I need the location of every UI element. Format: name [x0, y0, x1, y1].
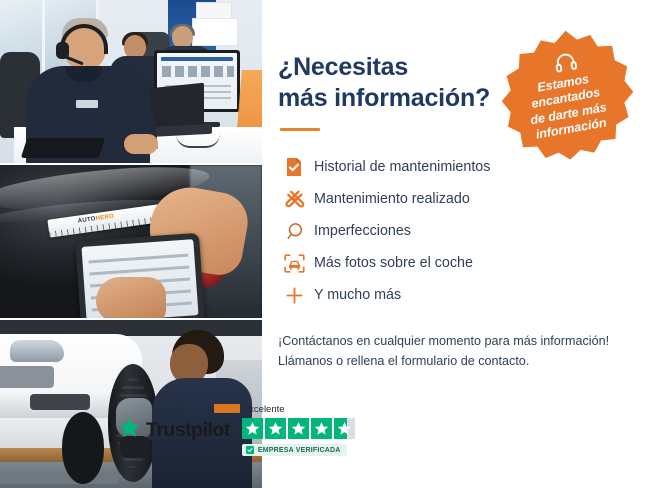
contact-text: ¡Contáctanos en cualquier momento para m…: [278, 331, 624, 372]
screen-thumbnails: [162, 66, 234, 77]
screen-header-bar: [161, 57, 233, 61]
inspector-hand-lower: [96, 277, 166, 320]
desk-tablet: [21, 138, 105, 158]
mounted-wheel: [62, 412, 104, 484]
verified-business-badge: EMPRESA VERIFICADA: [242, 444, 347, 456]
trustpilot-rating: Excelente: [242, 404, 355, 456]
front-grille: [0, 366, 54, 388]
magnifier-icon: [278, 222, 310, 241]
car-scan-icon: [278, 254, 310, 273]
ruler-brand-b: HERO: [95, 214, 114, 223]
feature-item-label: Más fotos sobre el coche: [310, 255, 473, 271]
tablet-row: [89, 266, 189, 276]
tools-wrench-screwdriver-icon: [278, 189, 310, 210]
contact-line-2: Llámanos o rellena el formulario de cont…: [278, 354, 529, 368]
vehicle-inspection-photo: AUTOHERO: [0, 165, 262, 320]
call-center-agents-photo: [0, 0, 262, 165]
feature-item-label: Y mucho más: [310, 287, 401, 303]
verified-label: EMPRESA VERIFICADA: [258, 447, 341, 454]
promo-card: AUTOHERO: [0, 0, 650, 488]
rating-star-4: [311, 418, 332, 439]
feature-item-label: Imperfecciones: [310, 223, 411, 239]
headlight: [10, 340, 64, 362]
badge-text-block: Estamos encantados de darte más informac…: [486, 17, 645, 176]
hand: [124, 134, 158, 154]
rating-label: Excelente: [243, 404, 285, 415]
checklist-document-icon: [278, 157, 310, 177]
rating-star-3: [288, 418, 309, 439]
page-title: ¿Necesitas más información?: [278, 52, 508, 113]
bumper-vent: [30, 394, 90, 410]
title-divider: [280, 128, 320, 131]
name-badge: [76, 100, 98, 108]
page-title-line1: ¿Necesitas: [278, 53, 408, 81]
rating-star-2: [265, 418, 286, 439]
feature-list: Historial de mantenimientos Mantenimient…: [278, 151, 624, 311]
feature-item-mas: Y mucho más: [278, 279, 624, 311]
rating-star-5-partial: [334, 418, 355, 439]
support-badge: Estamos encantados de darte más informac…: [497, 28, 634, 165]
feature-item-fotos: Más fotos sobre el coche: [278, 247, 624, 279]
feature-item-imperfecciones: Imperfecciones: [278, 215, 624, 247]
rating-star-1: [242, 418, 263, 439]
page-title-line2: más información?: [278, 84, 490, 112]
feature-item-mantenimiento: Mantenimiento realizado: [278, 183, 624, 215]
trustpilot-star-icon: [118, 416, 141, 444]
trustpilot-wordmark: Trustpilot: [146, 419, 230, 442]
contact-line-1: ¡Contáctanos en cualquier momento para m…: [278, 334, 609, 348]
verified-check-icon: [246, 446, 254, 454]
trustpilot-widget[interactable]: Trustpilot Excelente: [118, 404, 355, 456]
vehicle-lift-arm: [0, 472, 118, 484]
trustpilot-logo[interactable]: Trustpilot: [118, 416, 230, 444]
plus-icon: [278, 286, 310, 305]
ruler-brand-a: AUTO: [77, 216, 96, 224]
tablet-row: [88, 254, 188, 264]
feature-item-label: Mantenimiento realizado: [310, 191, 470, 207]
star-rating: [242, 418, 355, 439]
feature-item-label: Historial de mantenimientos: [310, 159, 490, 175]
